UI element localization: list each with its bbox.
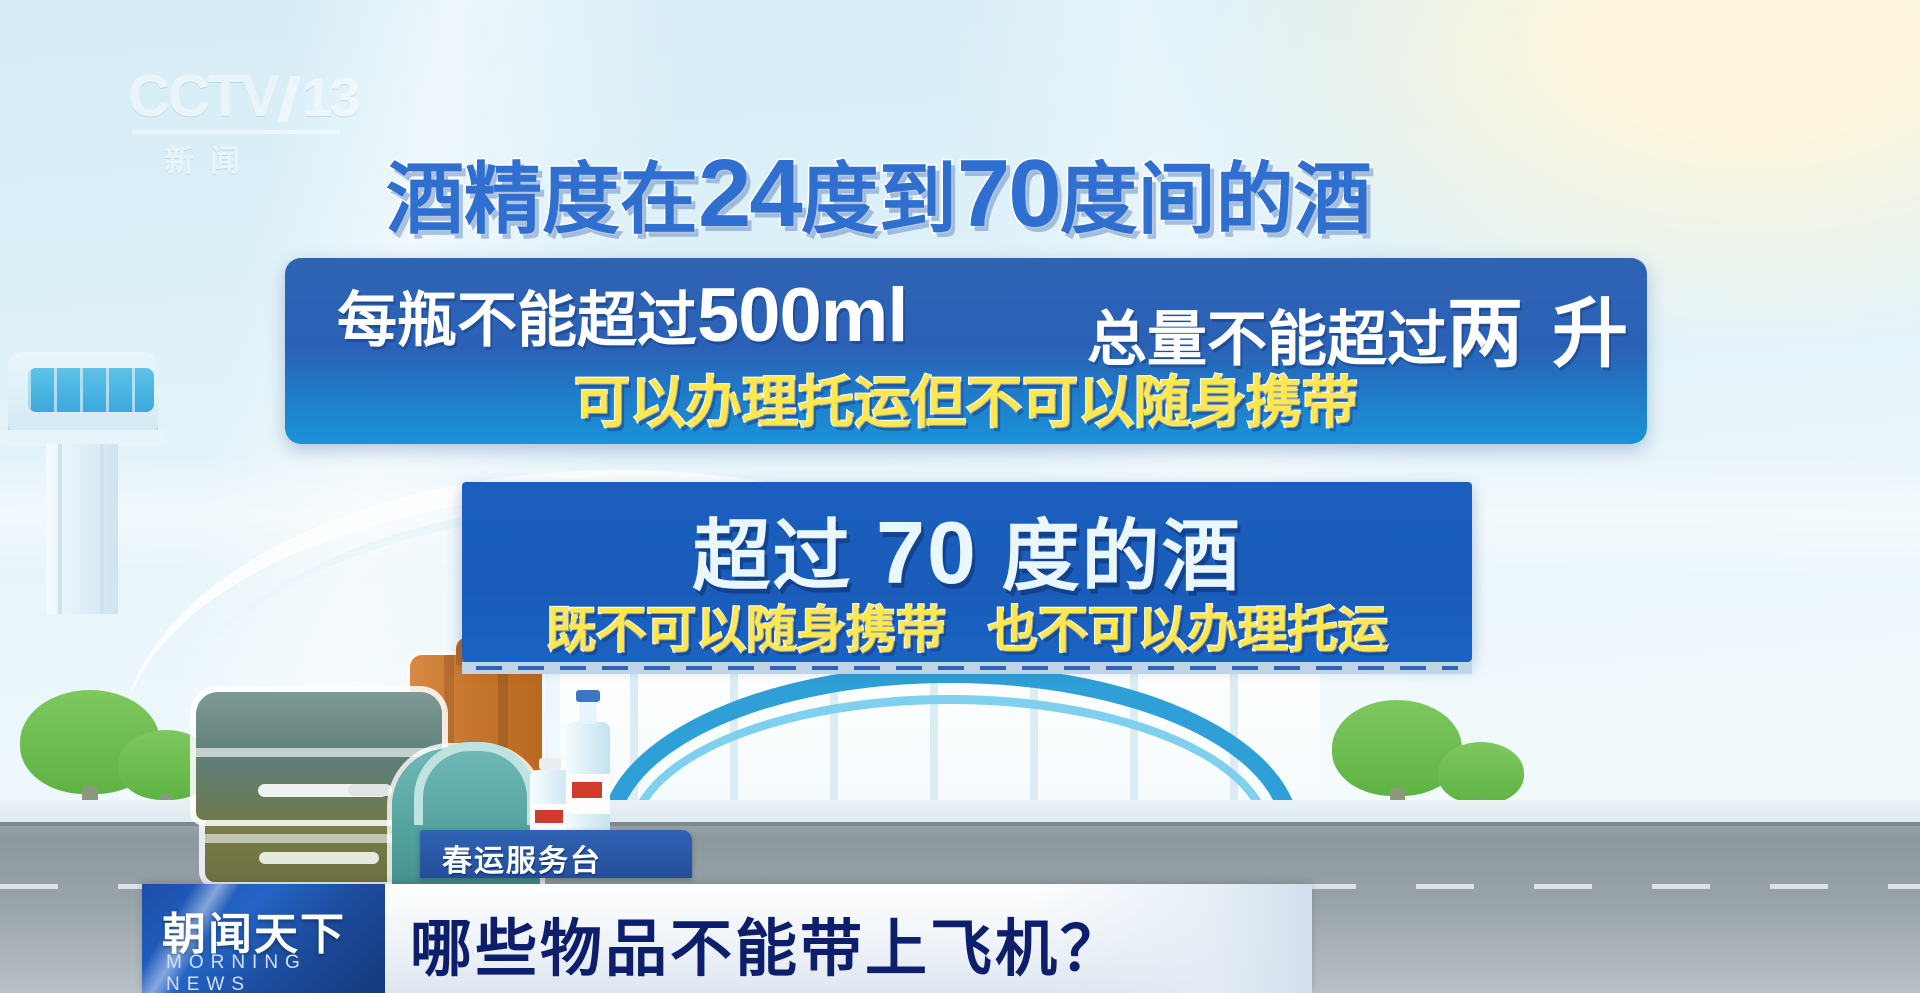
lower-third-title: 哪些物品不能带上飞机？	[410, 898, 1125, 988]
program-logo: 朝闻天下 MORNING NEWS	[142, 884, 385, 993]
tower-window	[28, 368, 154, 412]
tower-shaft-line-left	[58, 444, 62, 614]
headline-number-24: 24	[698, 140, 801, 247]
liquid-bottle-large	[566, 722, 610, 840]
panel2-head-prefix: 超过	[692, 512, 876, 600]
segment-tag-label: 春运服务台	[442, 836, 602, 880]
tower-shaft	[46, 444, 118, 614]
panel2-head-number: 70	[876, 503, 978, 602]
panel2-base-strip	[462, 662, 1472, 674]
bottle-label	[566, 774, 610, 814]
headline-prefix: 酒精度在	[386, 155, 698, 243]
program-name-en: MORNING NEWS	[166, 952, 385, 993]
panel2-note-carryon: 既不可以随身携带	[546, 602, 946, 658]
headline-suffix: 度间的酒	[1060, 155, 1372, 243]
control-tower-illustration	[0, 352, 180, 652]
bottle-cap	[539, 758, 561, 770]
panel1-per-bottle-rule: 每瓶不能超过500ml	[337, 272, 908, 359]
segment-tag: 春运服务台	[420, 830, 692, 878]
headline-number-70: 70	[957, 140, 1060, 247]
tower-shaft-line-right	[100, 444, 104, 614]
suitcase-band	[196, 748, 442, 757]
panel2-head-suffix: 度的酒	[978, 512, 1242, 600]
suitcase-grip	[259, 852, 379, 864]
suitcase-wheels	[348, 784, 392, 796]
graphic-headline: 酒精度在24度到70度间的酒	[386, 146, 1646, 242]
rule-panel-above-70: 超过 70 度的酒 既不可以随身携带 也不可以办理托运	[462, 482, 1472, 662]
headline-mid: 度到	[801, 155, 957, 243]
bottle-cap	[576, 690, 600, 702]
broadcast-frame: CCTV13 新闻 酒精度在24度到70度间的酒 每瓶不能超过500ml 总量不…	[0, 0, 1920, 993]
panel1-left-label: 每瓶不能超过	[337, 287, 697, 354]
bottle-neck	[579, 700, 597, 724]
panel1-left-value: 500ml	[697, 273, 908, 358]
panel2-note: 既不可以随身携带 也不可以办理托运	[462, 590, 1472, 662]
panel2-note-checked: 也不可以办理托运	[988, 602, 1388, 658]
tower-cabin	[8, 352, 158, 438]
rule-panel-24-to-70: 每瓶不能超过500ml 总量不能超过两 升 可以办理托运但不可以随身携带	[285, 258, 1647, 444]
panel1-note: 可以办理托运但不可以随身携带	[285, 358, 1647, 439]
